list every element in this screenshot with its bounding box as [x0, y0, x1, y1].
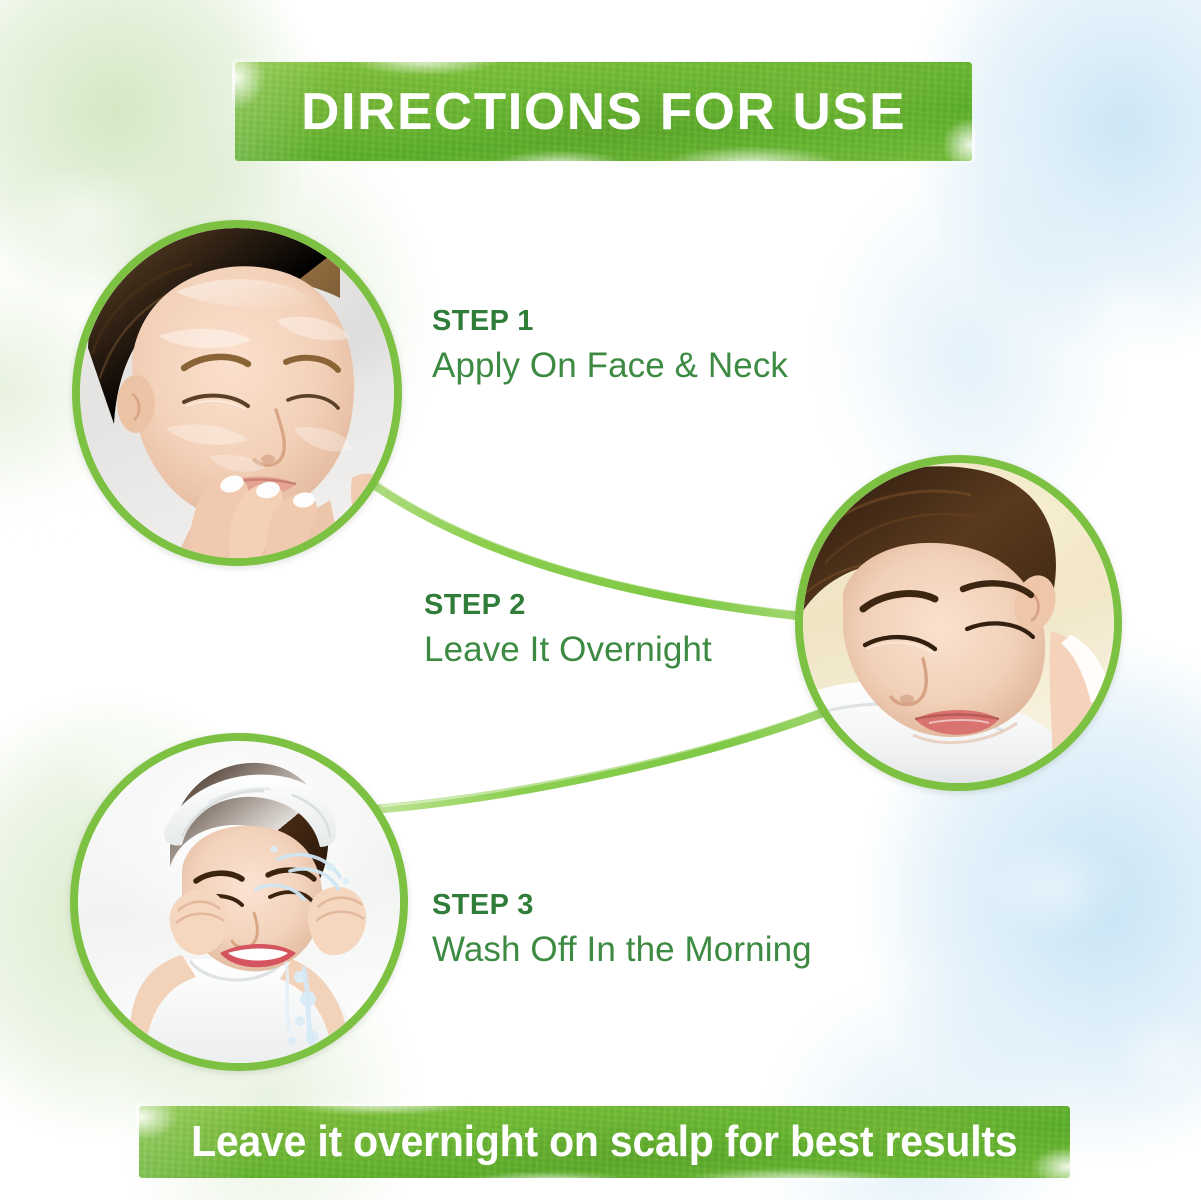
step-3-label: STEP 3 — [432, 890, 812, 921]
header-banner: DIRECTIONS FOR USE — [235, 62, 972, 161]
image-woman-sleeping — [803, 463, 1114, 783]
step-1-label: STEP 1 — [432, 306, 788, 337]
page-title: DIRECTIONS FOR USE — [301, 82, 906, 142]
connector-step3-to-step2-highlight — [382, 701, 838, 806]
footer-banner: Leave it overnight on scalp for best res… — [139, 1106, 1070, 1178]
footer-note: Leave it overnight on scalp for best res… — [191, 1117, 1017, 1167]
step-3-text: STEP 3 Wash Off In the Morning — [432, 890, 812, 971]
step-1-photo-circle — [72, 220, 402, 566]
step-2-description: Leave It Overnight — [424, 630, 712, 671]
connector-step3-to-step2 — [378, 706, 840, 809]
step-1-description: Apply On Face & Neck — [432, 346, 788, 387]
step-3-description: Wash Off In the Morning — [432, 930, 812, 971]
step-1-text: STEP 1 Apply On Face & Neck — [432, 306, 788, 387]
step-2-photo-circle — [795, 455, 1122, 791]
directions-for-use-infographic: DIRECTIONS FOR USE — [0, 0, 1201, 1200]
image-woman-washing-face — [78, 741, 400, 1063]
step-2-label: STEP 2 — [424, 590, 712, 621]
step-2-text: STEP 2 Leave It Overnight — [424, 590, 712, 671]
step-3-photo-circle — [70, 733, 408, 1071]
image-woman-applying-product — [80, 228, 394, 558]
